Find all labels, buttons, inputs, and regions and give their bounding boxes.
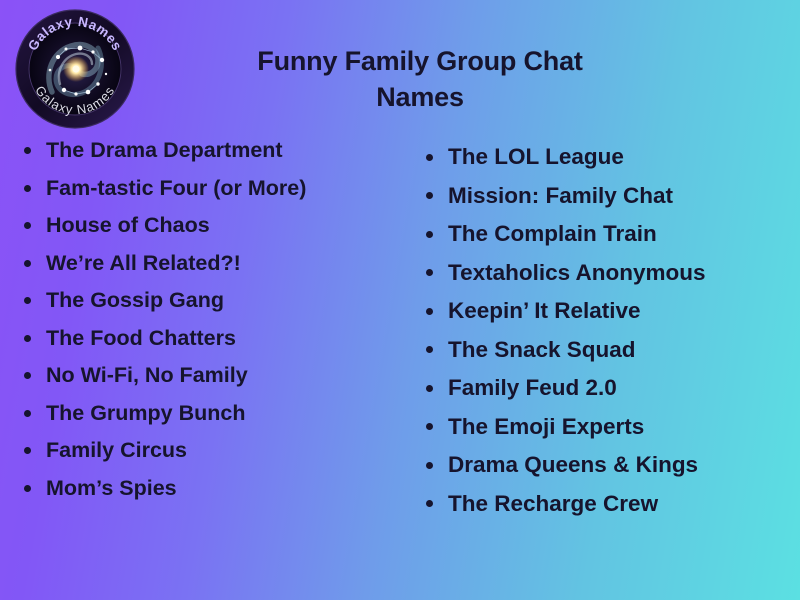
bullet-icon <box>24 260 31 267</box>
list-item-label: The Food Chatters <box>46 326 236 350</box>
list-item-label: No Wi-Fi, No Family <box>46 363 248 387</box>
list-item-label: Textaholics Anonymous <box>448 260 706 285</box>
left-column: The Drama Department Fam-tastic Four (or… <box>0 132 412 507</box>
page-title: Funny Family Group Chat Names <box>140 44 700 115</box>
list-item: The Snack Squad <box>422 331 800 370</box>
list-item: House of Chaos <box>20 207 412 245</box>
left-name-list: The Drama Department Fam-tastic Four (or… <box>20 132 412 507</box>
bullet-icon <box>24 147 31 154</box>
list-item-label: The Complain Train <box>448 221 657 246</box>
list-item: We’re All Related?! <box>20 245 412 283</box>
bullet-icon <box>426 154 433 161</box>
page-title-line-2: Names <box>140 80 700 116</box>
right-name-list: The LOL League Mission: Family Chat The … <box>422 138 800 523</box>
list-item-label: Fam-tastic Four (or More) <box>46 176 306 200</box>
name-columns: The Drama Department Fam-tastic Four (or… <box>0 132 800 532</box>
bullet-icon <box>426 462 433 469</box>
list-item-label: Family Feud 2.0 <box>448 375 617 400</box>
galaxy-names-logo-graphic: Galaxy Names Galaxy Names <box>14 8 136 130</box>
list-item-label: The Snack Squad <box>448 337 636 362</box>
list-item-label: Drama Queens & Kings <box>448 452 698 477</box>
list-item: No Wi-Fi, No Family <box>20 357 412 395</box>
bullet-icon <box>426 308 433 315</box>
list-item-label: Keepin’ It Relative <box>448 298 641 323</box>
list-item: Keepin’ It Relative <box>422 292 800 331</box>
list-item-label: The LOL League <box>448 144 624 169</box>
list-item-label: The Grumpy Bunch <box>46 401 245 425</box>
list-item: The Complain Train <box>422 215 800 254</box>
bullet-icon <box>24 447 31 454</box>
list-item: The Food Chatters <box>20 320 412 358</box>
bullet-icon <box>426 423 433 430</box>
list-item-label: The Drama Department <box>46 138 283 162</box>
list-item: Family Circus <box>20 432 412 470</box>
list-item-label: House of Chaos <box>46 213 210 237</box>
list-item: The LOL League <box>422 138 800 177</box>
list-item: The Drama Department <box>20 132 412 170</box>
bullet-icon <box>24 372 31 379</box>
bullet-icon <box>426 346 433 353</box>
bullet-icon <box>24 485 31 492</box>
bullet-icon <box>426 231 433 238</box>
list-item: Drama Queens & Kings <box>422 446 800 485</box>
list-item: The Recharge Crew <box>422 485 800 524</box>
list-item: Mission: Family Chat <box>422 177 800 216</box>
bullet-icon <box>426 269 433 276</box>
bullet-icon <box>24 335 31 342</box>
list-item: The Grumpy Bunch <box>20 395 412 433</box>
galaxy-names-logo: Galaxy Names Galaxy Names <box>14 8 136 130</box>
bullet-icon <box>24 185 31 192</box>
bullet-icon <box>426 385 433 392</box>
bullet-icon <box>426 192 433 199</box>
bullet-icon <box>24 297 31 304</box>
bullet-icon <box>426 500 433 507</box>
list-item-label: The Gossip Gang <box>46 288 224 312</box>
list-item-label: Mom’s Spies <box>46 476 177 500</box>
list-item-label: Family Circus <box>46 438 187 462</box>
list-item: The Gossip Gang <box>20 282 412 320</box>
list-item: Mom’s Spies <box>20 470 412 508</box>
list-item-label: The Recharge Crew <box>448 491 658 516</box>
page-title-line-1: Funny Family Group Chat <box>140 44 700 80</box>
list-item: The Emoji Experts <box>422 408 800 447</box>
list-item: Fam-tastic Four (or More) <box>20 170 412 208</box>
list-item: Textaholics Anonymous <box>422 254 800 293</box>
right-column: The LOL League Mission: Family Chat The … <box>412 132 800 523</box>
list-item: Family Feud 2.0 <box>422 369 800 408</box>
list-item-label: We’re All Related?! <box>46 251 241 275</box>
bullet-icon <box>24 222 31 229</box>
list-item-label: Mission: Family Chat <box>448 183 673 208</box>
bullet-icon <box>24 410 31 417</box>
list-item-label: The Emoji Experts <box>448 414 644 439</box>
